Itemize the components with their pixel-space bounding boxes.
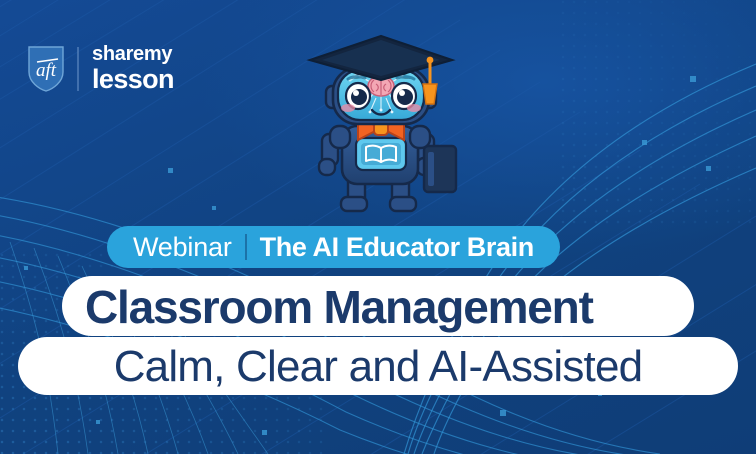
kicker-divider [245, 234, 247, 260]
svg-text:aft: aft [36, 60, 57, 81]
brand-logo[interactable]: aft sharemy lesson [28, 44, 174, 93]
headline-text: Classroom Management [85, 281, 593, 333]
webinar-label: Webinar [133, 232, 232, 263]
webinar-kicker-pill: Webinar The AI Educator Brain [107, 226, 560, 268]
webinar-promo-graphic: aft sharemy lesson [0, 0, 756, 454]
aft-shield-icon: aft [28, 46, 64, 92]
webinar-series-title: The AI Educator Brain [260, 232, 534, 263]
ai-educator-robot-illustration [300, 34, 462, 220]
logo-line-2: lesson [92, 66, 174, 93]
subtitle-text: Calm, Clear and AI-Assisted [0, 342, 756, 392]
logo-wordmark: sharemy lesson [92, 44, 174, 93]
logo-line-1: sharemy [92, 44, 174, 64]
briefcase [424, 146, 456, 192]
logo-divider [77, 47, 79, 91]
